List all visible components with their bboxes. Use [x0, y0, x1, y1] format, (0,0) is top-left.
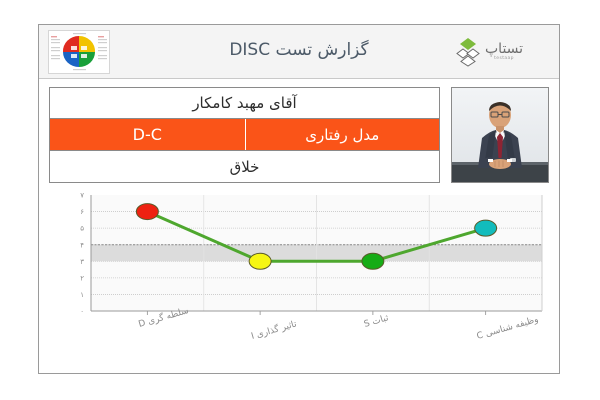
behavior-model-value: D-C	[50, 119, 245, 150]
svg-text:وظیفه شناسی C: وظیفه شناسی C	[476, 315, 540, 342]
trait-cell: خلاق	[50, 151, 439, 182]
profile-summary-row: آقای مهبد کامکار مدل رفتاری D-C خلاق	[49, 87, 549, 185]
x-axis-category-label: ثبات S	[363, 313, 390, 330]
brand-name: تستاپ	[485, 42, 523, 56]
profile-table: آقای مهبد کامکار مدل رفتاری D-C خلاق	[49, 87, 440, 183]
behavior-model-label: مدل رفتاری	[245, 119, 440, 150]
behavior-model-row: مدل رفتاری D-C	[50, 119, 439, 151]
brand-text: تستاپ testaap	[485, 42, 523, 62]
y-axis-tick-label: ۵	[80, 225, 84, 233]
person-name-cell: آقای مهبد کامکار	[50, 88, 439, 119]
disc-profile-chart: ۰۱۲۳۴۵۶۷سلطه گری Dتاثیر گذاری Iثبات Sوظی…	[49, 189, 549, 369]
svg-text:ثبات S: ثبات S	[363, 313, 390, 330]
y-axis-tick-label: ۳	[80, 258, 84, 266]
data-point-marker	[249, 253, 271, 269]
brand-logo: تستاپ testaap	[455, 34, 551, 70]
x-axis-category-label: تاثیر گذاری I	[250, 317, 299, 342]
y-axis-tick-label: ۶	[80, 208, 84, 216]
y-axis-tick-label: ۰	[80, 308, 84, 316]
brand-subtitle: testaap	[494, 57, 514, 62]
y-axis-tick-label: ۴	[80, 241, 84, 249]
person-photo	[451, 87, 549, 183]
report-page: گزارش تست DISC تستاپ testaap آقای مهبد ک…	[0, 0, 600, 400]
disc-report-card: گزارش تست DISC تستاپ testaap آقای مهبد ک…	[38, 24, 560, 374]
svg-text:تاثیر گذاری I: تاثیر گذاری I	[250, 317, 299, 342]
y-axis-tick-label: ۱	[80, 291, 84, 299]
x-axis-category-label: وظیفه شناسی C	[476, 315, 540, 342]
report-header: گزارش تست DISC تستاپ testaap	[39, 25, 559, 79]
green-diamond-stack-logo-icon	[455, 37, 481, 67]
data-point-marker	[362, 253, 384, 269]
y-axis-tick-label: ۷	[80, 192, 84, 200]
data-point-marker	[136, 204, 158, 220]
y-axis-tick-label: ۲	[80, 274, 84, 282]
data-point-marker	[475, 220, 497, 236]
